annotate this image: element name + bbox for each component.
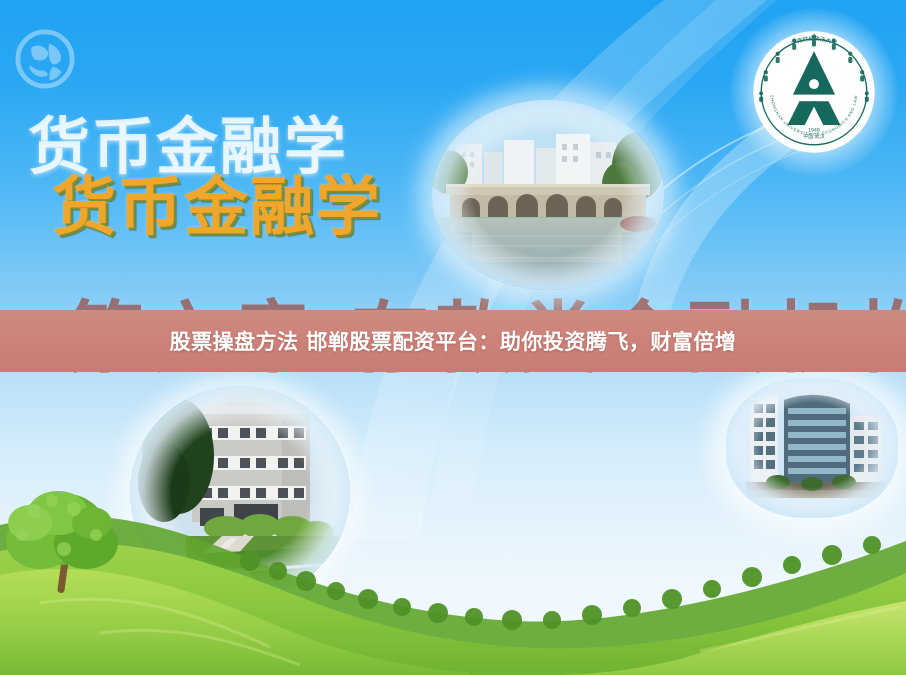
globe-icon <box>14 28 76 90</box>
photo-campus-building <box>130 386 350 600</box>
photo-office-building <box>726 378 898 518</box>
emblem-year: 1948 <box>808 128 820 134</box>
slide-canvas: 货币金融学 第六章 存款类金融机构 货币金融学 中 <box>0 0 906 675</box>
tree-icon <box>6 491 118 593</box>
university-emblem: 中南财经政法大学 ZHONGNAN UNIVERSITY OF ECONOMIC… <box>748 26 880 158</box>
photo-arch-bridge <box>432 100 664 290</box>
banner-title-text: 股票操盘方法 邯郸股票配资平台：助你投资腾飞，财富倍增 <box>170 326 737 356</box>
emblem-location: 中国 武汉 <box>803 133 824 140</box>
title-banner: 股票操盘方法 邯郸股票配资平台：助你投资腾飞，财富倍增 <box>0 310 906 372</box>
book-title: 货币金融学 <box>52 156 382 248</box>
